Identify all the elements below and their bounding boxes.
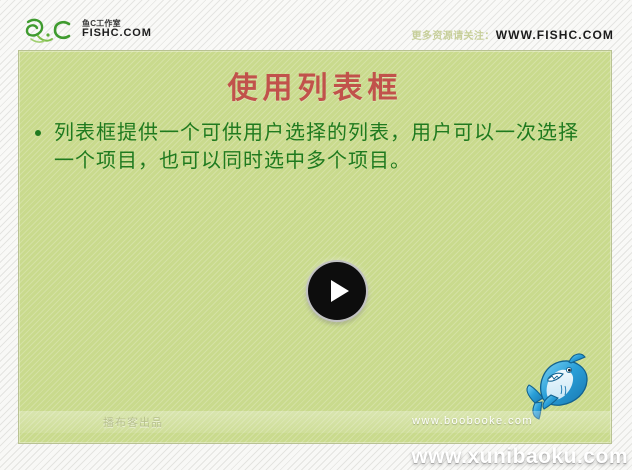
slide-footer-strip: 播布客出品 www.boobooke.com	[19, 411, 611, 433]
video-play-button[interactable]	[306, 260, 368, 322]
list-item: 列表框提供一个可供用户选择的列表，用户可以一次选择一个项目，也可以同时选中多个项…	[35, 119, 589, 174]
slide-root: 鱼C工作室 FISHC.COM 更多资源请关注： WWW.FISHC.COM 使…	[0, 0, 632, 470]
fishc-brush-logo-icon	[22, 15, 80, 45]
logo-english-name: FISHC.COM	[82, 28, 152, 40]
page-title: 使用列表框	[19, 63, 611, 107]
logo-text-block: 鱼C工作室 FISHC.COM	[82, 20, 152, 41]
footer-producer-label: 播布客出品	[103, 414, 163, 430]
header-promo-url[interactable]: WWW.FISHC.COM	[496, 28, 614, 42]
footer-site-url[interactable]: www.boobooke.com	[412, 415, 533, 427]
header-promo-label: 更多资源请关注：	[412, 27, 495, 42]
slide-content-panel: 使用列表框 列表框提供一个可供用户选择的列表，用户可以一次选择一个项目，也可以同…	[18, 50, 612, 444]
header-band: 鱼C工作室 FISHC.COM 更多资源请关注： WWW.FISHC.COM	[0, 0, 632, 50]
page-watermark: www.xunibaoku.com	[411, 445, 628, 469]
bullet-dot-icon	[35, 130, 41, 136]
fishc-logo[interactable]: 鱼C工作室 FISHC.COM	[22, 14, 152, 46]
header-promo[interactable]: 更多资源请关注： WWW.FISHC.COM	[412, 27, 614, 42]
play-triangle-icon	[331, 280, 349, 302]
bullet-text: 列表框提供一个可供用户选择的列表，用户可以一次选择一个项目，也可以同时选中多个项…	[54, 119, 589, 174]
